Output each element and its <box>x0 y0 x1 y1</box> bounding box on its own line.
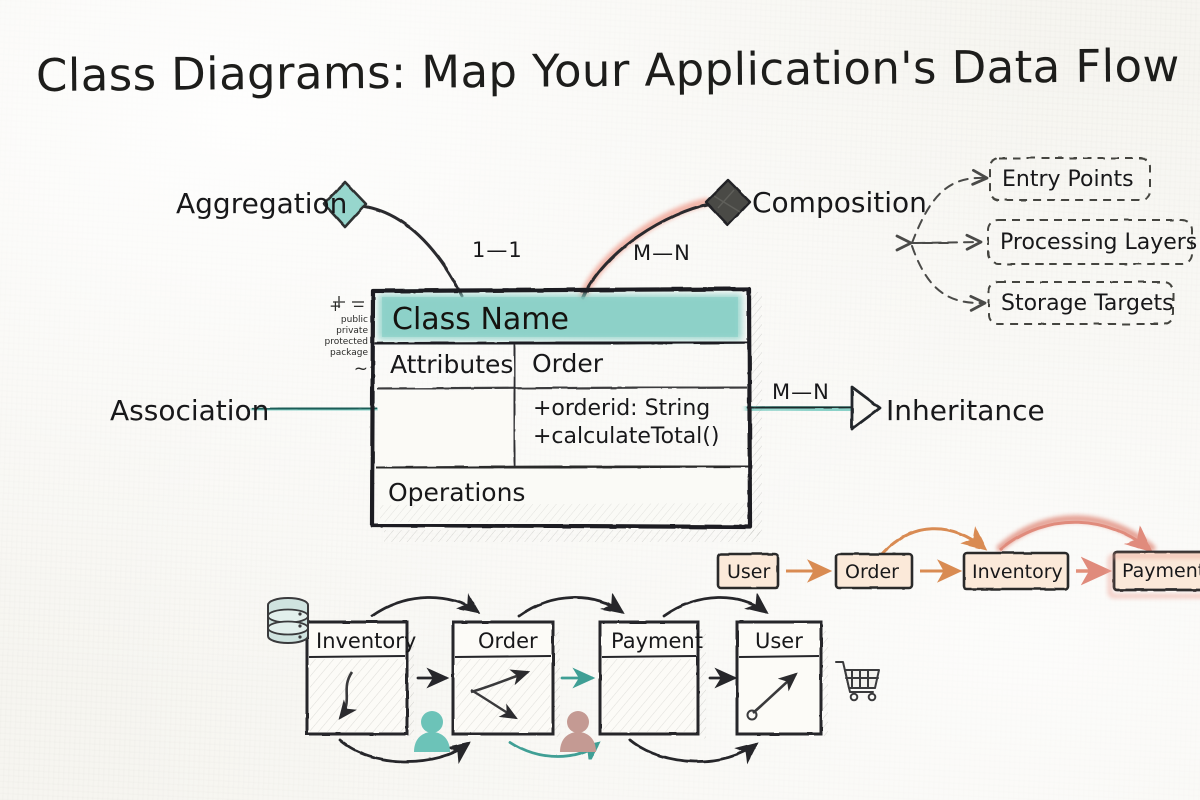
diagram-canvas: Class Diagrams: Map Your Application's D… <box>0 0 1200 800</box>
scope-note-storage-targets[interactable]: Storage Targets <box>1001 291 1174 316</box>
user-avatar-teal-icon <box>414 711 450 752</box>
user-avatar-mauve-icon <box>560 711 596 752</box>
visibility-item-private: private <box>300 326 368 337</box>
scope-note-entry-points[interactable]: Entry Points <box>1002 167 1134 192</box>
sequence-label-payment: Payment <box>611 629 703 653</box>
sequence-label-user: User <box>755 629 803 653</box>
flow-chain-arcs <box>880 519 1152 556</box>
scope-note-processing-layers[interactable]: Processing Layers <box>1000 230 1197 255</box>
database-icon <box>268 598 308 643</box>
flow-node-paymentgateway[interactable]: PaymentGa <box>1122 560 1200 582</box>
sequence-label-inventory: Inventory <box>316 629 416 653</box>
class-member-calculatetotal: +calculateTotal() <box>533 424 719 449</box>
association-label: Association <box>110 394 269 427</box>
visibility-item-protected: protected <box>300 337 368 348</box>
visibility-item-public: public <box>300 315 368 326</box>
visibility-item-package: package <box>300 348 368 359</box>
inheritance-connector <box>748 407 856 410</box>
visibility-legend: + − public private protected package ~ <box>300 297 368 380</box>
class-box-header: Class Name <box>392 302 569 337</box>
flow-node-user[interactable]: User <box>727 561 770 583</box>
class-box-operations-label: Operations <box>388 478 525 507</box>
visibility-package-symbol: ~ <box>300 359 368 380</box>
inheritance-label: Inheritance <box>886 394 1045 427</box>
aggregation-label: Aggregation <box>176 187 347 220</box>
flow-node-inventory[interactable]: Inventory <box>972 561 1063 583</box>
class-box-right-class-name: Order <box>532 349 603 378</box>
flow-node-order[interactable]: Order <box>845 561 899 583</box>
aggregation-connector <box>362 206 462 296</box>
visibility-symbols: + − <box>300 297 368 315</box>
aggregation-multiplicity: 1—1 <box>472 238 523 262</box>
shopping-cart-icon <box>836 662 879 700</box>
inheritance-triangle-icon <box>852 387 880 429</box>
class-box-attributes-label: Attributes <box>390 350 513 379</box>
class-member-orderid: +orderid: String <box>533 396 710 421</box>
inheritance-multiplicity: M—N <box>772 380 830 404</box>
sequence-label-order: Order <box>478 629 538 653</box>
association-connector <box>253 408 376 410</box>
composition-label: Composition <box>752 186 927 219</box>
composition-multiplicity: M—N <box>633 241 691 265</box>
composition-diamond-icon <box>706 180 750 225</box>
